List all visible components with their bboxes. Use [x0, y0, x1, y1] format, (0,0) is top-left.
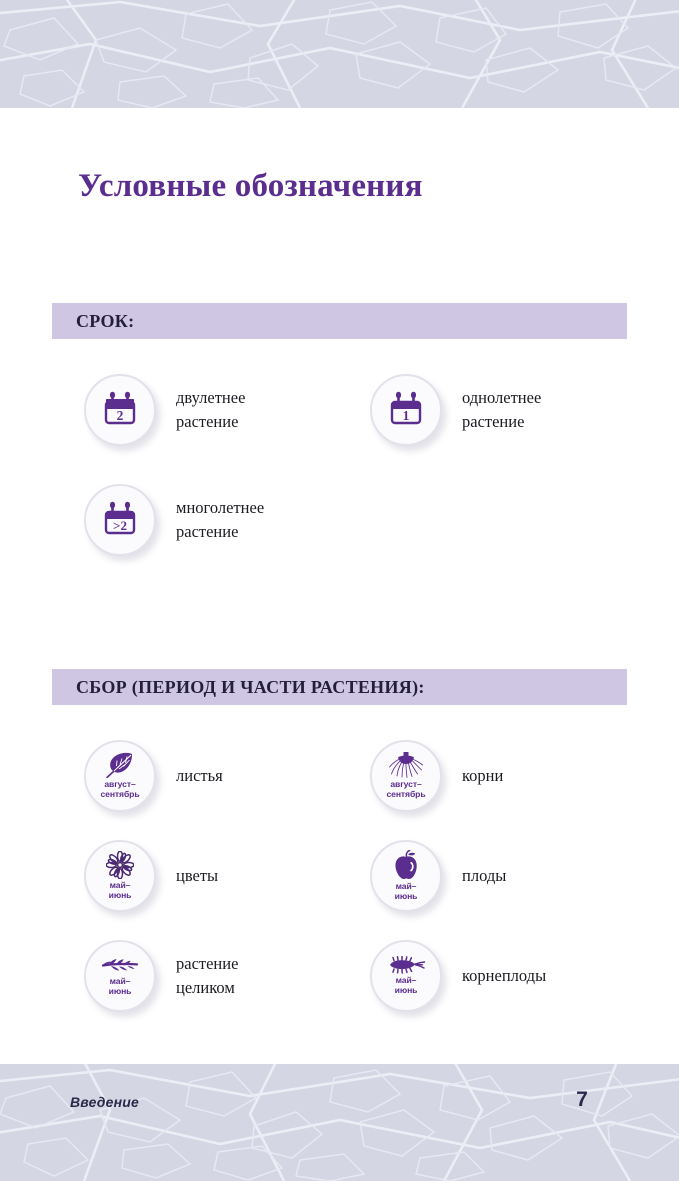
badge-leaves: август– сентябрь [84, 740, 156, 812]
badge-period-root-vegetables: май– июнь [395, 976, 418, 995]
badge-period-leaves: август– сентябрь [100, 780, 139, 799]
calendar-value: 1 [403, 408, 410, 423]
badge-period-flowers: май– июнь [109, 881, 132, 900]
badge-fruits: май– июнь [370, 840, 442, 912]
root-icon [388, 752, 424, 778]
badge-biennial: 2 [84, 374, 156, 446]
legend-item-flowers: май– июнь цветы [84, 840, 218, 912]
legend-label-biennial: двулетнее растение [176, 386, 245, 434]
badge-period-fruits: май– июнь [395, 882, 418, 901]
badge-roots: август– сентябрь [370, 740, 442, 812]
badge-root-vegetables: май– июнь [370, 940, 442, 1012]
root-vegetable-icon [386, 956, 426, 974]
footer-leaf-texture-band [0, 1064, 679, 1181]
leaf-vein-pattern-icon [0, 0, 679, 108]
calendar-icon: 1 [386, 390, 426, 430]
section-header-srok-label: СРОК: [76, 311, 134, 332]
badge-flowers: май– июнь [84, 840, 156, 912]
section-header-sbor-label: СБОР (ПЕРИОД И ЧАСТИ РАСТЕНИЯ): [76, 677, 425, 698]
legend-item-roots: август– сентябрь корни [370, 740, 503, 812]
legend-item-whole-plant: май– июнь растение целиком [84, 940, 238, 1012]
legend-label-roots: корни [462, 764, 503, 788]
badge-annual: 1 [370, 374, 442, 446]
legend-item-biennial: 2 двулетнее растение [84, 374, 245, 446]
calendar-icon: 2 [100, 390, 140, 430]
calendar-value: >2 [113, 518, 127, 533]
page-root: Условные обозначения СРОК: 2 двулет [0, 0, 679, 1181]
legend-label-perennial: многолетнее растение [176, 496, 264, 544]
header-leaf-texture-band [0, 0, 679, 108]
section-header-sbor: СБОР (ПЕРИОД И ЧАСТИ РАСТЕНИЯ): [52, 669, 627, 705]
page-title: Условные обозначения [78, 168, 423, 205]
legend-label-leaves: листья [176, 764, 223, 788]
legend-label-whole-plant: растение целиком [176, 952, 238, 1000]
section-header-srok: СРОК: [52, 303, 627, 339]
legend-label-fruits: плоды [462, 864, 506, 888]
badge-perennial: >2 [84, 484, 156, 556]
legend-label-root-vegetables: корнеплоды [462, 964, 546, 988]
legend-item-perennial: >2 многолетнее растение [84, 484, 264, 556]
leaf-icon [105, 752, 135, 778]
badge-period-roots: август– сентябрь [386, 780, 425, 799]
sprig-icon [101, 955, 139, 975]
legend-item-root-vegetables: май– июнь корнеплоды [370, 940, 546, 1012]
footer-page-number: 7 [562, 1088, 602, 1112]
apple-icon [392, 850, 420, 880]
calendar-value: 2 [117, 408, 124, 423]
leaf-vein-pattern-icon [0, 1064, 679, 1181]
flower-icon [106, 851, 134, 879]
legend-item-leaves: август– сентябрь листья [84, 740, 223, 812]
badge-period-whole-plant: май– июнь [109, 977, 132, 996]
legend-item-annual: 1 однолетнее растение [370, 374, 541, 446]
badge-whole-plant: май– июнь [84, 940, 156, 1012]
calendar-icon: >2 [100, 500, 140, 540]
footer-chapter-label: Введение [70, 1094, 139, 1110]
legend-label-flowers: цветы [176, 864, 218, 888]
legend-item-fruits: май– июнь плоды [370, 840, 506, 912]
legend-label-annual: однолетнее растение [462, 386, 541, 434]
